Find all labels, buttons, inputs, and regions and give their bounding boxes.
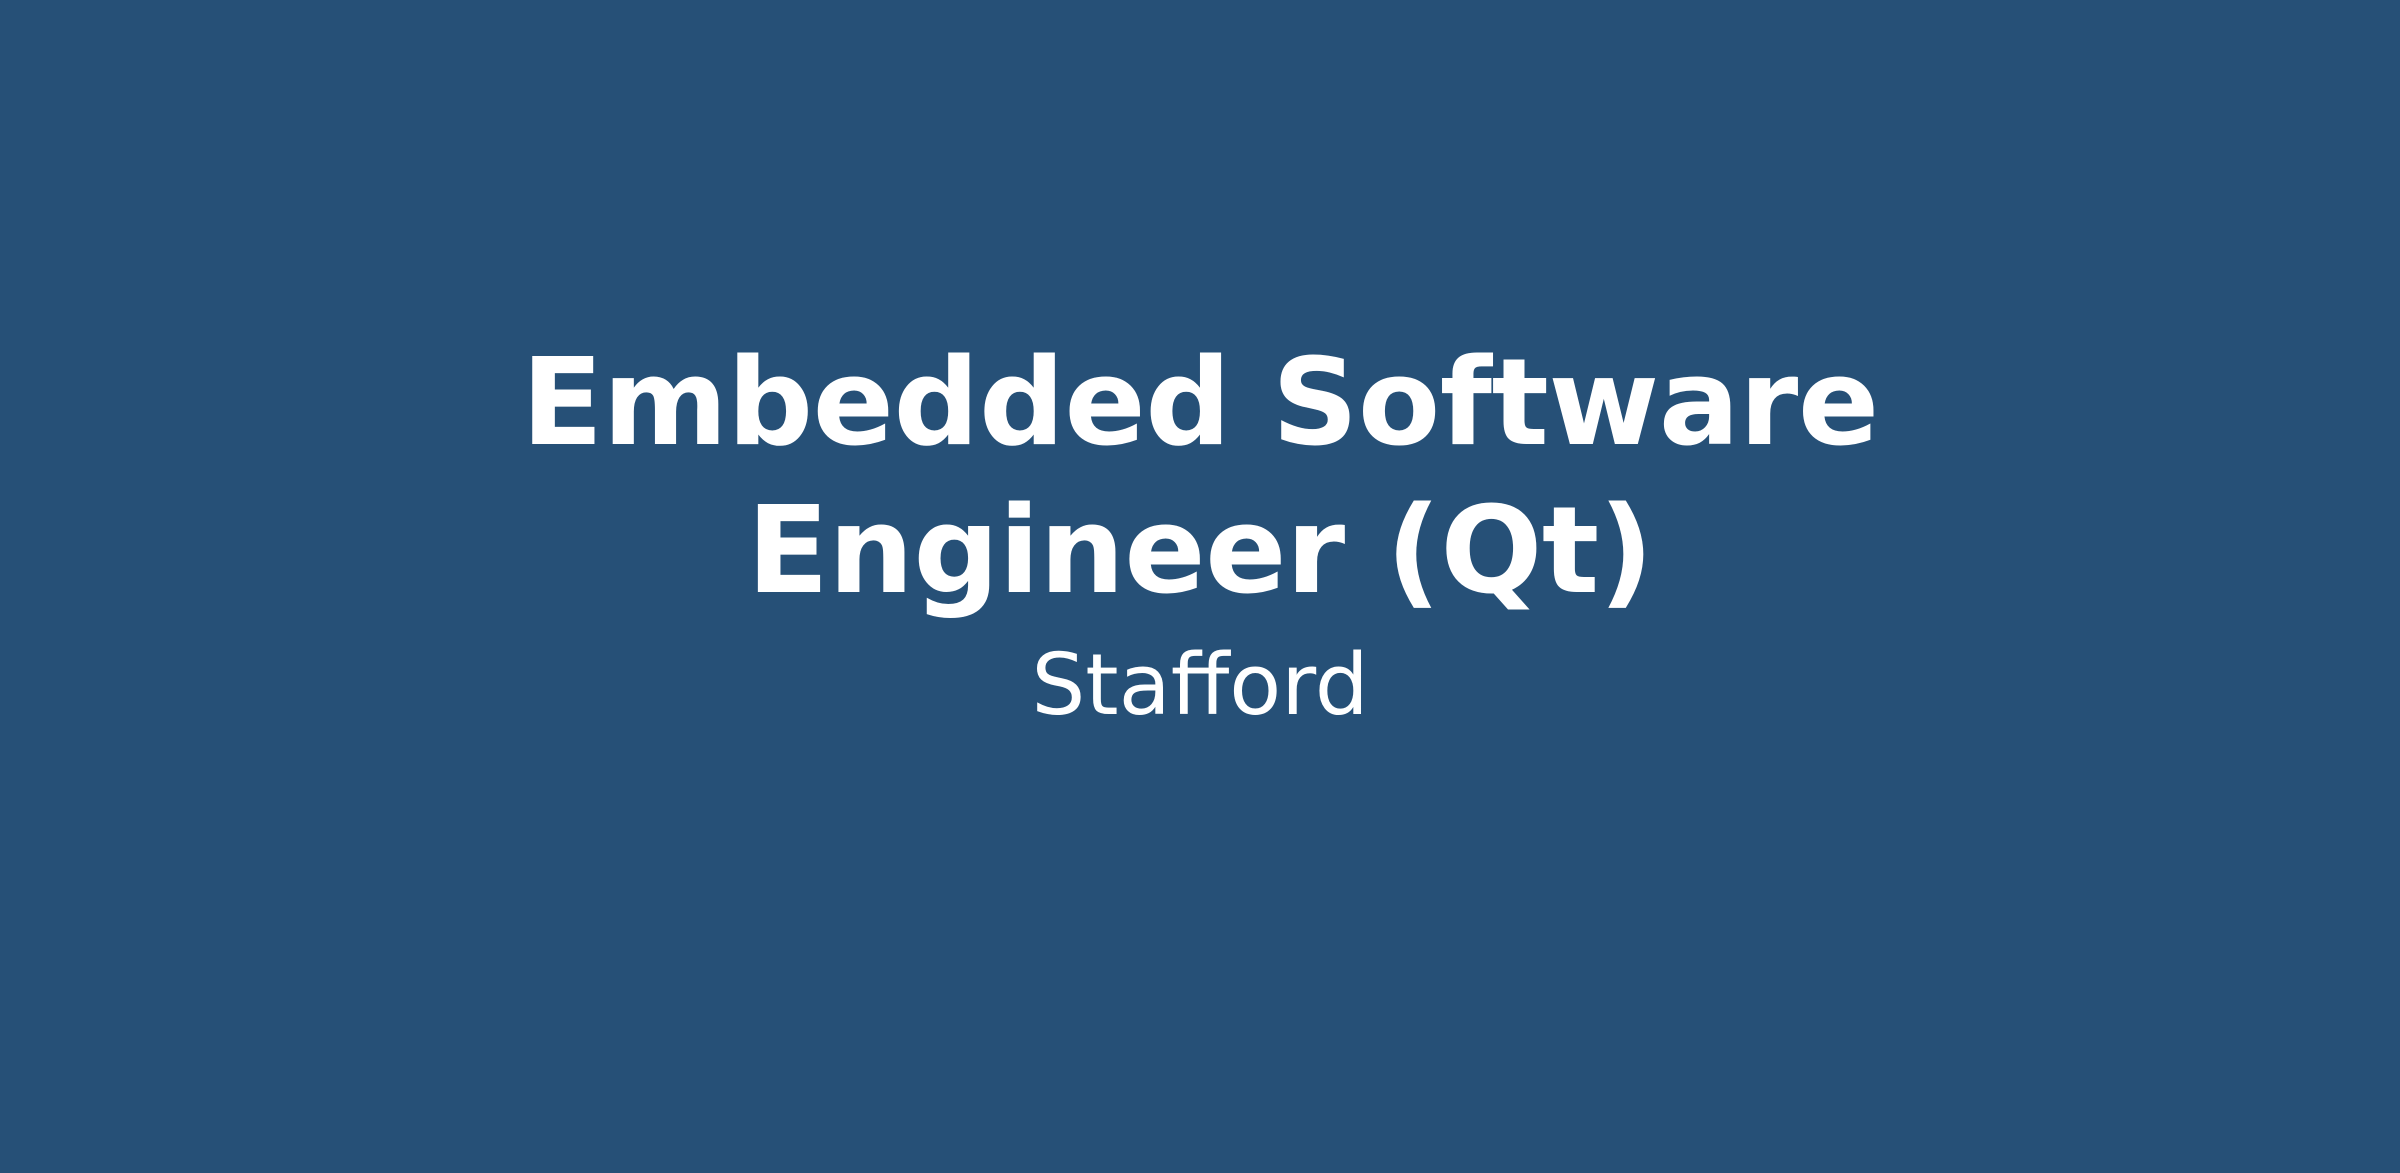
page-title: Embedded Software Engineer (Qt) [490,330,1910,626]
job-posting-banner: Embedded Software Engineer (Qt) Stafford [0,0,2400,1173]
job-location-subtitle: Stafford [180,626,2220,736]
banner-content: Embedded Software Engineer (Qt) Stafford [0,330,2400,736]
